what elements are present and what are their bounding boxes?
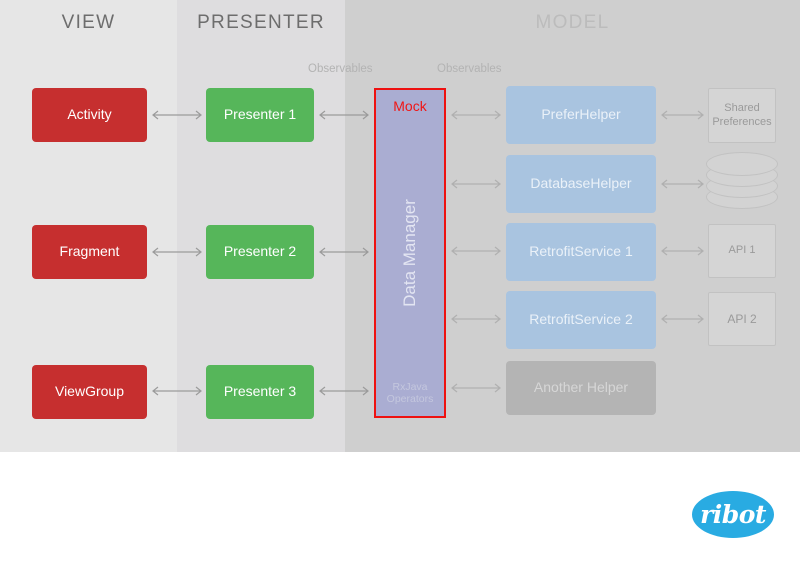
arrow-datamanager-retrofitservice2 [451,312,501,326]
column-title-presenter: PRESENTER [177,12,345,34]
data-manager-box[interactable]: Mock Data Manager RxJava Operators [374,88,446,418]
column-title-model: MODEL [345,12,800,34]
arrow-fragment-presenter2 [152,245,202,259]
observables-label-datamanager-helpers: Observables [437,63,502,75]
helper-node-anotherhelper[interactable]: Another Helper [506,361,656,415]
rxjava-operators-line1: RxJava [376,381,444,394]
presenter-node-3-label: Presenter 3 [224,383,296,401]
column-title-view: VIEW [0,12,177,34]
arrow-preferhelper-sharedpreferences [661,108,704,122]
database-cylinder-icon [706,152,778,210]
arrow-datamanager-anotherhelper [451,381,501,395]
arrow-databasehelper-database [661,177,704,191]
ribot-logo-text: ribot [700,500,766,529]
helper-node-retrofitservice2[interactable]: RetrofitService 2 [506,291,656,349]
observables-label-presenter-datamanager: Observables [308,63,373,75]
external-node-shared-preferences-line1: Shared [712,102,771,116]
view-node-viewgroup-label: ViewGroup [55,383,124,401]
arrow-presenter2-datamanager [319,245,369,259]
helper-node-retrofitservice1[interactable]: RetrofitService 1 [506,223,656,281]
external-node-api-2-label: API 2 [727,312,756,327]
data-manager-title: Data Manager [400,199,420,307]
arrow-retrofitservice2-api2 [661,312,704,326]
helper-node-preferhelper-label: PreferHelper [541,106,620,124]
presenter-node-3[interactable]: Presenter 3 [206,365,314,419]
external-node-shared-preferences-line2: Preferences [712,116,771,130]
external-node-api-1-label: API 1 [729,244,756,258]
helper-node-retrofitservice1-label: RetrofitService 1 [529,243,632,261]
helper-node-retrofitservice2-label: RetrofitService 2 [529,311,632,329]
presenter-node-2-label: Presenter 2 [224,243,296,261]
view-node-activity-label: Activity [67,106,111,124]
view-node-fragment-label: Fragment [60,243,120,261]
view-node-fragment[interactable]: Fragment [32,225,147,279]
arrow-presenter1-datamanager [319,108,369,122]
external-node-api-2[interactable]: API 2 [708,292,776,346]
rxjava-operators-line2: Operators [376,393,444,406]
view-node-activity[interactable]: Activity [32,88,147,142]
helper-node-databasehelper-label: DatabaseHelper [530,175,631,193]
data-manager-title-wrap: Data Manager [376,90,444,416]
rxjava-operators-label: RxJava Operators [376,381,444,406]
external-node-shared-preferences[interactable]: Shared Preferences [708,88,776,143]
arrow-presenter3-datamanager [319,384,369,398]
ribot-logo: ribot [692,491,774,538]
presenter-node-2[interactable]: Presenter 2 [206,225,314,279]
arrow-datamanager-preferhelper [451,108,501,122]
external-node-api-1[interactable]: API 1 [708,224,776,278]
arrow-retrofitservice1-api1 [661,244,704,258]
architecture-diagram: VIEW PRESENTER MODEL Observables Observa… [0,0,800,452]
arrow-activity-presenter1 [152,108,202,122]
arrow-datamanager-retrofitservice1 [451,244,501,258]
helper-node-preferhelper[interactable]: PreferHelper [506,86,656,144]
helper-node-anotherhelper-label: Another Helper [534,379,628,397]
database-disc-1 [706,152,778,176]
presenter-node-1[interactable]: Presenter 1 [206,88,314,142]
arrow-datamanager-databasehelper [451,177,501,191]
presenter-node-1-label: Presenter 1 [224,106,296,124]
helper-node-databasehelper[interactable]: DatabaseHelper [506,155,656,213]
view-node-viewgroup[interactable]: ViewGroup [32,365,147,419]
arrow-viewgroup-presenter3 [152,384,202,398]
